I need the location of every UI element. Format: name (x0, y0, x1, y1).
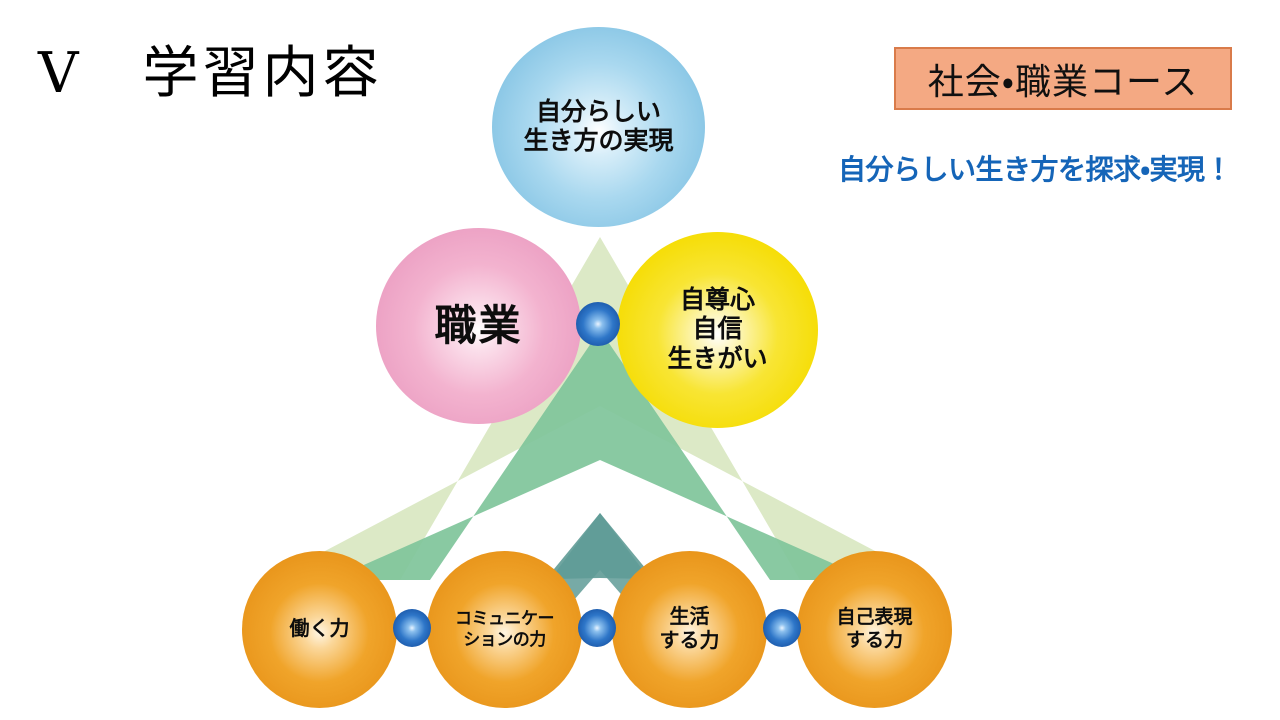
node-esteem-label: 自尊心 自信 生きがい (663, 286, 771, 375)
node-skill-living[interactable]: 生活 する力 (612, 551, 767, 708)
node-skill-communication-label: コミュニケー ションの力 (451, 609, 558, 649)
node-esteem[interactable]: 自尊心 自信 生きがい (617, 232, 818, 428)
tagline-text: 自分らしい生き方を探求・実現！ (838, 148, 1278, 188)
node-skill-self-expression[interactable]: 自己表現 する力 (797, 551, 952, 708)
node-skill-communication[interactable]: コミュニケー ションの力 (427, 551, 582, 708)
node-skill-living-label: 生活 する力 (656, 606, 724, 653)
chevron-outer-shape (270, 237, 930, 580)
slide-canvas: Ⅴ 学習内容 社会・職業コース 自分らしい生き方を探求・実現！ 自分らしい 生き… (0, 0, 1280, 720)
node-vocation-label: 職業 (430, 301, 526, 351)
course-badge-label: 社会・職業コース (928, 53, 1198, 105)
node-vocation[interactable]: 職業 (376, 228, 581, 424)
node-vision-label: 自分らしい 生き方の実現 (519, 98, 677, 157)
node-vision[interactable]: 自分らしい 生き方の実現 (492, 27, 705, 227)
page-title: Ⅴ 学習内容 (38, 44, 382, 106)
course-badge: 社会・職業コース (894, 47, 1232, 110)
connector-sphere-middle (576, 302, 620, 346)
node-skill-working[interactable]: 働く力 (242, 551, 397, 708)
connector-sphere-bottom-1 (393, 609, 431, 647)
node-skill-self-expression-label: 自己表現 する力 (832, 607, 916, 652)
connector-sphere-bottom-3 (763, 609, 801, 647)
node-skill-working-label: 働く力 (286, 618, 354, 642)
connector-sphere-bottom-2 (578, 609, 616, 647)
